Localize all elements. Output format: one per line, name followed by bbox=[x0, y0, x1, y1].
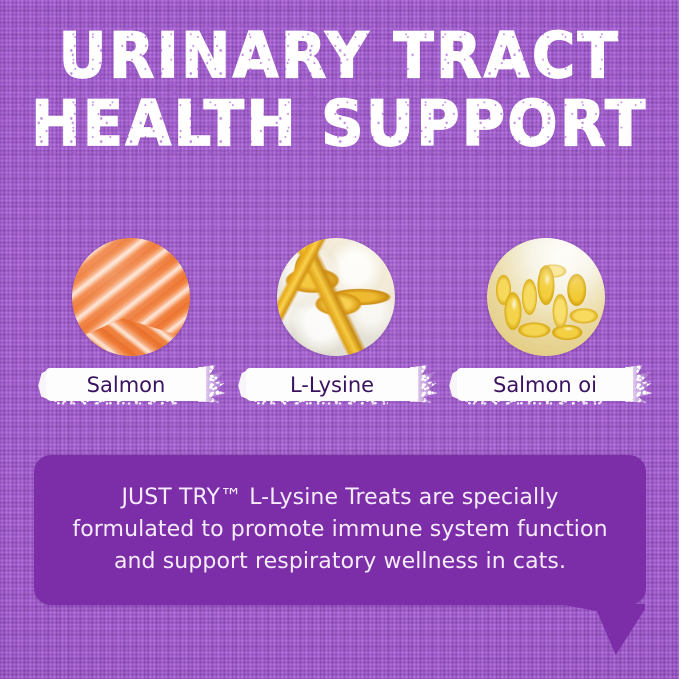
ingredient-label-wrap: Salmon bbox=[36, 368, 226, 408]
ingredient-row: Salmon L-Lysine bbox=[0, 238, 679, 413]
ingredient-label-wrap: Salmon oi bbox=[451, 368, 641, 408]
brush-edge-bottom bbox=[54, 399, 179, 406]
ingredient-label: L-Lysine bbox=[290, 374, 374, 396]
speech-bubble: JUST TRY™ L-Lysine Treats are specially … bbox=[34, 455, 646, 605]
product-infographic-canvas: URINARY TRACT HEALTH SUPPORT Salmon bbox=[0, 0, 679, 679]
brush-edge-right bbox=[410, 365, 444, 404]
brush-edge-left bbox=[448, 369, 460, 400]
brush-edge-right bbox=[625, 365, 659, 404]
brush-stroke-banner: L-Lysine bbox=[246, 368, 418, 401]
callout-bubble-wrap: JUST TRY™ L-Lysine Treats are specially … bbox=[34, 455, 646, 605]
headline-line-2-text: HEALTH SUPPORT bbox=[31, 88, 648, 161]
ingredient-item-salmon: Salmon bbox=[36, 238, 226, 408]
golden-oil-bubbles-photo bbox=[277, 238, 395, 356]
headline-line-2: HEALTH SUPPORT bbox=[0, 87, 679, 162]
ingredient-label: Salmon bbox=[87, 374, 166, 396]
callout-text: JUST TRY™ L-Lysine Treats are specially … bbox=[34, 482, 646, 578]
ingredient-label-wrap: L-Lysine bbox=[241, 368, 431, 408]
brush-edge-left bbox=[237, 369, 249, 400]
brush-edge-bottom bbox=[465, 399, 602, 406]
headline-line-1: URINARY TRACT bbox=[0, 19, 679, 94]
brush-edge-bottom bbox=[254, 399, 388, 406]
headline: URINARY TRACT HEALTH SUPPORT bbox=[0, 22, 679, 158]
brush-stroke-banner: Salmon bbox=[46, 368, 206, 401]
ingredient-label: Salmon oi bbox=[493, 374, 597, 396]
brush-edge-left bbox=[37, 369, 49, 400]
ingredient-item-l-lysine: L-Lysine bbox=[241, 238, 431, 408]
brush-edge-right bbox=[198, 365, 232, 404]
brush-stroke-banner: Salmon oi bbox=[457, 368, 633, 401]
softgel-capsules-photo bbox=[487, 238, 605, 356]
ingredient-item-salmon-oil: Salmon oi bbox=[451, 238, 641, 408]
salmon-fillet-photo bbox=[72, 238, 190, 356]
headline-line-1-text: URINARY TRACT bbox=[59, 20, 621, 93]
